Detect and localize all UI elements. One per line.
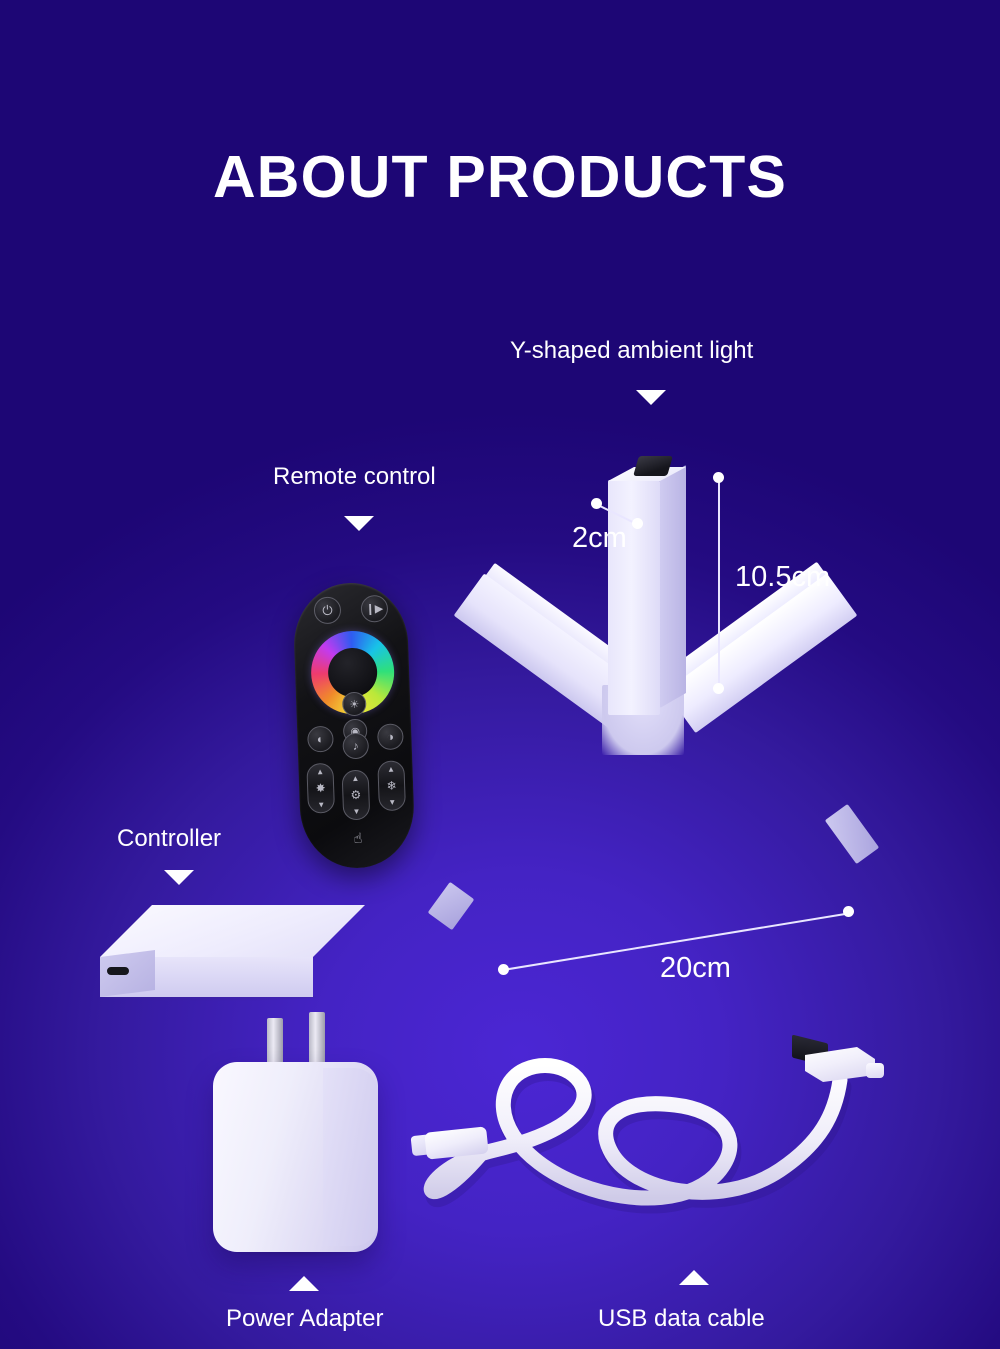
usb-a-connector (792, 1037, 870, 1089)
dim-down-icon: ◐ (307, 726, 334, 753)
adapter-side-face (323, 1068, 378, 1246)
y-shaped-ambient-light-product (420, 455, 890, 925)
chevron-down-icon: ▼ (388, 798, 396, 807)
triangle-down-icon-controller (164, 870, 194, 885)
chevron-down-icon: ▼ (352, 807, 360, 816)
rgb-color-wheel: ☀ ◉ (310, 630, 396, 716)
chevron-up-icon: ▲ (316, 767, 324, 776)
dimension-line-height (718, 477, 720, 689)
triangle-up-icon-usb-data-cable (679, 1270, 709, 1285)
power-adapter-product (205, 1010, 395, 1260)
usb-c-connector (410, 1124, 494, 1172)
dimension-dot-width-end (632, 518, 643, 529)
power-button-icon: ⏻ (314, 596, 342, 624)
dimension-dot-height-top (713, 472, 724, 483)
settings-stepper: ▲ ⚙ ▼ (342, 770, 371, 821)
usb-a-strain-relief (866, 1063, 884, 1078)
chevron-down-icon: ▼ (317, 800, 325, 809)
gear-icon: ⚙ (350, 789, 361, 801)
callout-label-y-shaped-light: Y-shaped ambient light (510, 337, 753, 365)
callout-label-controller: Controller (117, 825, 221, 853)
dimension-label-span: 20cm (660, 952, 731, 985)
triangle-down-icon-y-shaped-light (636, 390, 666, 405)
controller-product (100, 905, 365, 1000)
usb-c-port-icon (107, 967, 129, 975)
music-note-icon: ♪ (342, 733, 369, 760)
page-title: ABOUT PRODUCTS (0, 147, 1000, 209)
dimension-dot-span-start (498, 964, 509, 975)
speed-stepper: ▲ ❄ ▼ (377, 760, 406, 811)
dim-up-icon: ◑ (377, 723, 404, 750)
triangle-down-icon-remote-control (344, 516, 374, 531)
dimension-label-height: 10.5cm (735, 561, 830, 594)
callout-label-remote-control: Remote control (273, 463, 436, 491)
dimension-dot-height-bottom (713, 683, 724, 694)
dimension-dot-span-end (843, 906, 854, 917)
dimension-label-width: 2cm (572, 522, 627, 555)
usb-data-cable-product (420, 1020, 965, 1235)
color-wheel-center (327, 647, 378, 698)
touch-icon: ☝ (346, 826, 371, 851)
callout-label-power-adapter: Power Adapter (226, 1305, 383, 1333)
chevron-up-icon: ▲ (351, 774, 359, 783)
y-light-connector-cap (633, 456, 673, 476)
product-infographic: ABOUT PRODUCTS 2cm 10.5cm 20cm ⏻ ❙▶ ☀ ◉ (0, 0, 1000, 1349)
snowflake-icon: ❄ (386, 780, 396, 792)
brightness-icon: ✸ (315, 782, 325, 794)
chevron-up-icon: ▲ (387, 765, 395, 774)
usb-c-shell (424, 1126, 488, 1159)
triangle-up-icon-power-adapter (289, 1276, 319, 1291)
y-light-left-arm-cap (428, 882, 475, 930)
dimension-dot-width-start (591, 498, 602, 509)
y-light-right-arm-cap (825, 804, 879, 864)
bulb-icon: ☀ (342, 692, 367, 717)
cable-wire (420, 1020, 965, 1235)
play-pause-button-icon: ❙▶ (360, 595, 388, 623)
brightness-stepper: ▲ ✸ ▼ (306, 763, 335, 814)
remote-control-product: ⏻ ❙▶ ☀ ◉ ◐ ♪ ◑ ▲ ✸ ▼ ▲ ⚙ ▼ ▲ ❄ ▼ ☝ (292, 581, 416, 870)
y-light-vertical-arm-side (660, 465, 686, 708)
callout-label-usb-data-cable: USB data cable (598, 1305, 765, 1333)
